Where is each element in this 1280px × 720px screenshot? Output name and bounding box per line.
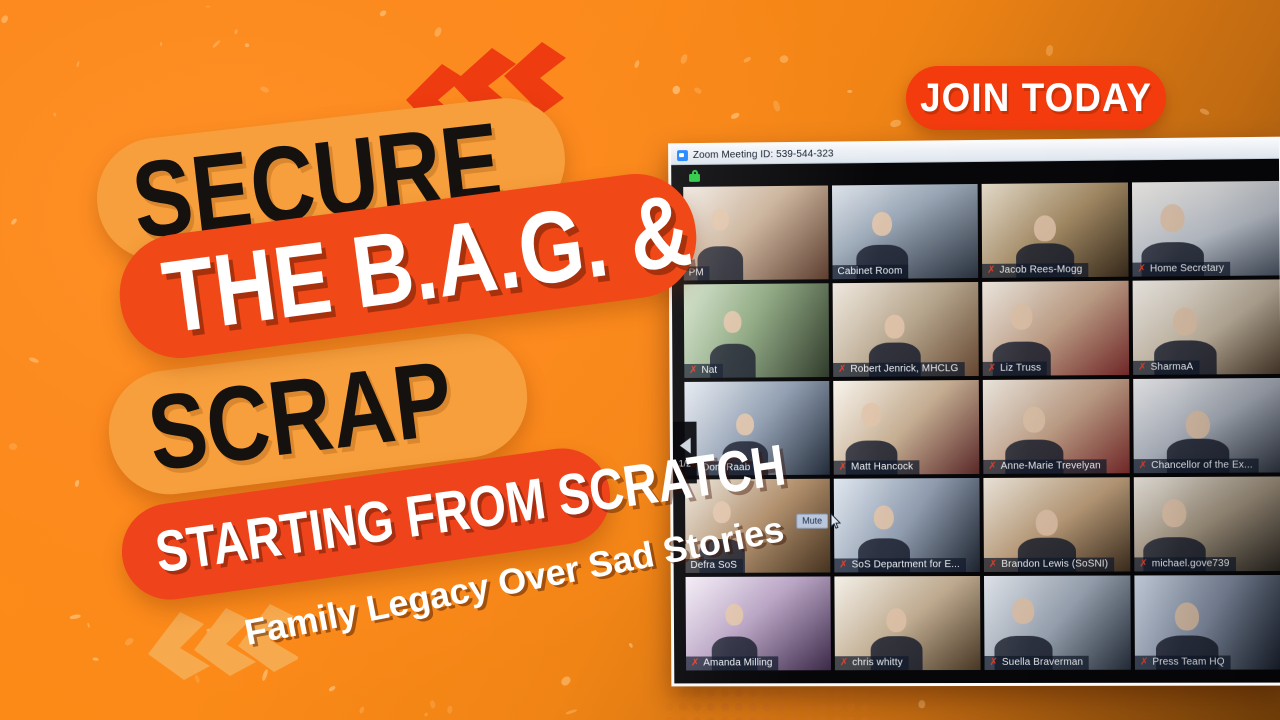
mute-button-label: Mute bbox=[796, 514, 828, 529]
participant-name: Home Secretary bbox=[1150, 263, 1224, 275]
participant-name: Chancellor of the Ex... bbox=[1151, 460, 1253, 472]
participant-name-bar: ✗Nat bbox=[684, 364, 723, 378]
participant-name-bar: ✗Jacob Rees-Mogg bbox=[982, 263, 1088, 278]
participant-name: michael.gove739 bbox=[1152, 558, 1230, 569]
muted-microphone-icon: ✗ bbox=[839, 560, 847, 570]
muted-microphone-icon: ✗ bbox=[1140, 657, 1148, 667]
muted-microphone-icon: ✗ bbox=[1139, 559, 1147, 569]
participant-name: Anne-Marie Trevelyan bbox=[1001, 460, 1101, 472]
participant-tile[interactable]: ✗Jacob Rees-Mogg bbox=[982, 182, 1129, 277]
muted-microphone-icon: ✗ bbox=[1138, 264, 1146, 274]
participant-tile[interactable]: ✗Anne-Marie Trevelyan bbox=[983, 379, 1130, 474]
participant-name: Suella Braverman bbox=[1002, 657, 1083, 668]
participant-tile[interactable]: ✗Chancellor of the Ex... bbox=[1133, 378, 1280, 473]
participant-name-bar: ✗SoS Department for E... bbox=[834, 558, 966, 572]
participant-tile[interactable]: PM bbox=[683, 185, 828, 280]
participant-name-bar: ✗Home Secretary bbox=[1132, 262, 1230, 277]
participant-tile[interactable]: ✗Liz Truss bbox=[982, 281, 1129, 376]
zoom-meeting-window[interactable]: Zoom Meeting ID: 539-544-323 PMCabinet R… bbox=[668, 137, 1280, 687]
participant-tile[interactable]: ✗SoS Department for E... bbox=[834, 478, 980, 572]
participant-tile[interactable]: ✗Robert Jenrick, MHCLG bbox=[833, 282, 979, 377]
participant-name: SoS Department for E... bbox=[852, 559, 960, 570]
window-title: Zoom Meeting ID: 539-544-323 bbox=[693, 148, 834, 160]
participant-name: Cabinet Room bbox=[837, 266, 902, 278]
muted-microphone-icon: ✗ bbox=[988, 363, 996, 373]
muted-microphone-icon: ✗ bbox=[839, 462, 847, 472]
mute-button-tooltip[interactable]: Mute bbox=[796, 514, 841, 529]
participant-tile[interactable]: ✗chris whitty bbox=[834, 576, 980, 670]
green-lock-icon[interactable] bbox=[689, 169, 700, 182]
participant-name-bar: ✗Amanda Milling bbox=[686, 656, 778, 670]
participant-tile[interactable]: ✗SharmaA bbox=[1133, 279, 1280, 374]
participant-name: Jacob Rees-Mogg bbox=[999, 264, 1082, 276]
participant-name: Matt Hancock bbox=[851, 461, 913, 472]
participant-name-bar: ✗chris whitty bbox=[835, 656, 909, 670]
participant-name-bar: ✗Chancellor of the Ex... bbox=[1134, 459, 1259, 474]
muted-microphone-icon: ✗ bbox=[987, 265, 995, 275]
participant-name-bar: ✗Suella Braverman bbox=[984, 656, 1089, 670]
muted-microphone-icon: ✗ bbox=[691, 658, 699, 668]
participant-tile[interactable]: ✗Matt Hancock bbox=[833, 380, 979, 475]
participant-name: Liz Truss bbox=[1000, 363, 1041, 374]
participant-name: Brandon Lewis (SoSNI) bbox=[1001, 559, 1108, 570]
muted-microphone-icon: ✗ bbox=[1139, 461, 1147, 471]
participant-tile[interactable]: ✗Nat bbox=[684, 283, 829, 378]
mouse-pointer-icon bbox=[830, 514, 841, 529]
participant-name-bar: ✗Robert Jenrick, MHCLG bbox=[833, 362, 964, 377]
participant-tile[interactable]: ✗Home Secretary bbox=[1132, 181, 1280, 277]
participant-tile[interactable]: ✗michael.gove739 bbox=[1134, 476, 1280, 571]
join-today-label: JOIN TODAY bbox=[920, 76, 1152, 121]
poster-canvas: JOIN TODAY SECURE THE B.A.G. & SCRAP STA… bbox=[0, 0, 1280, 720]
participant-name-bar: ✗Brandon Lewis (SoSNI) bbox=[984, 558, 1114, 572]
participant-tile[interactable]: Cabinet Room bbox=[832, 184, 978, 279]
participant-tile[interactable]: ✗Press Team HQ bbox=[1134, 575, 1280, 670]
participant-tile[interactable]: ✗Amanda Milling bbox=[686, 576, 831, 670]
participant-tile[interactable]: ✗Brandon Lewis (SoSNI) bbox=[983, 477, 1130, 572]
muted-microphone-icon: ✗ bbox=[1138, 362, 1146, 372]
participant-name: SharmaA bbox=[1151, 361, 1194, 372]
participant-name-bar: ✗michael.gove739 bbox=[1134, 557, 1235, 571]
participant-grid: PMCabinet Room✗Jacob Rees-Mogg✗Home Secr… bbox=[671, 181, 1280, 671]
participant-name: Robert Jenrick, MHCLG bbox=[850, 363, 958, 375]
participant-name-bar: ✗Press Team HQ bbox=[1135, 656, 1231, 670]
muted-microphone-icon: ✗ bbox=[840, 658, 848, 668]
meeting-body: PMCabinet Room✗Jacob Rees-Mogg✗Home Secr… bbox=[671, 159, 1280, 687]
muted-microphone-icon: ✗ bbox=[689, 365, 697, 375]
participant-name-bar: ✗Matt Hancock bbox=[834, 460, 919, 474]
muted-microphone-icon: ✗ bbox=[989, 559, 997, 569]
zoom-logo-icon bbox=[677, 150, 688, 161]
muted-microphone-icon: ✗ bbox=[838, 364, 846, 374]
participant-name-bar: ✗Liz Truss bbox=[983, 361, 1047, 375]
headline-line-3: SCRAP bbox=[143, 345, 458, 487]
participant-name: Press Team HQ bbox=[1152, 657, 1224, 668]
participant-tile[interactable]: ✗Suella Braverman bbox=[984, 575, 1131, 669]
participant-name: chris whitty bbox=[852, 657, 903, 668]
participant-name: Nat bbox=[701, 365, 717, 376]
muted-microphone-icon: ✗ bbox=[989, 657, 997, 667]
participant-name: Amanda Milling bbox=[703, 657, 772, 668]
participant-name-bar: ✗Anne-Marie Trevelyan bbox=[983, 459, 1107, 474]
muted-microphone-icon: ✗ bbox=[988, 461, 996, 471]
join-today-badge[interactable]: JOIN TODAY bbox=[906, 66, 1166, 130]
participant-name-bar: ✗SharmaA bbox=[1133, 360, 1199, 375]
participant-name-bar: Cabinet Room bbox=[832, 265, 908, 280]
